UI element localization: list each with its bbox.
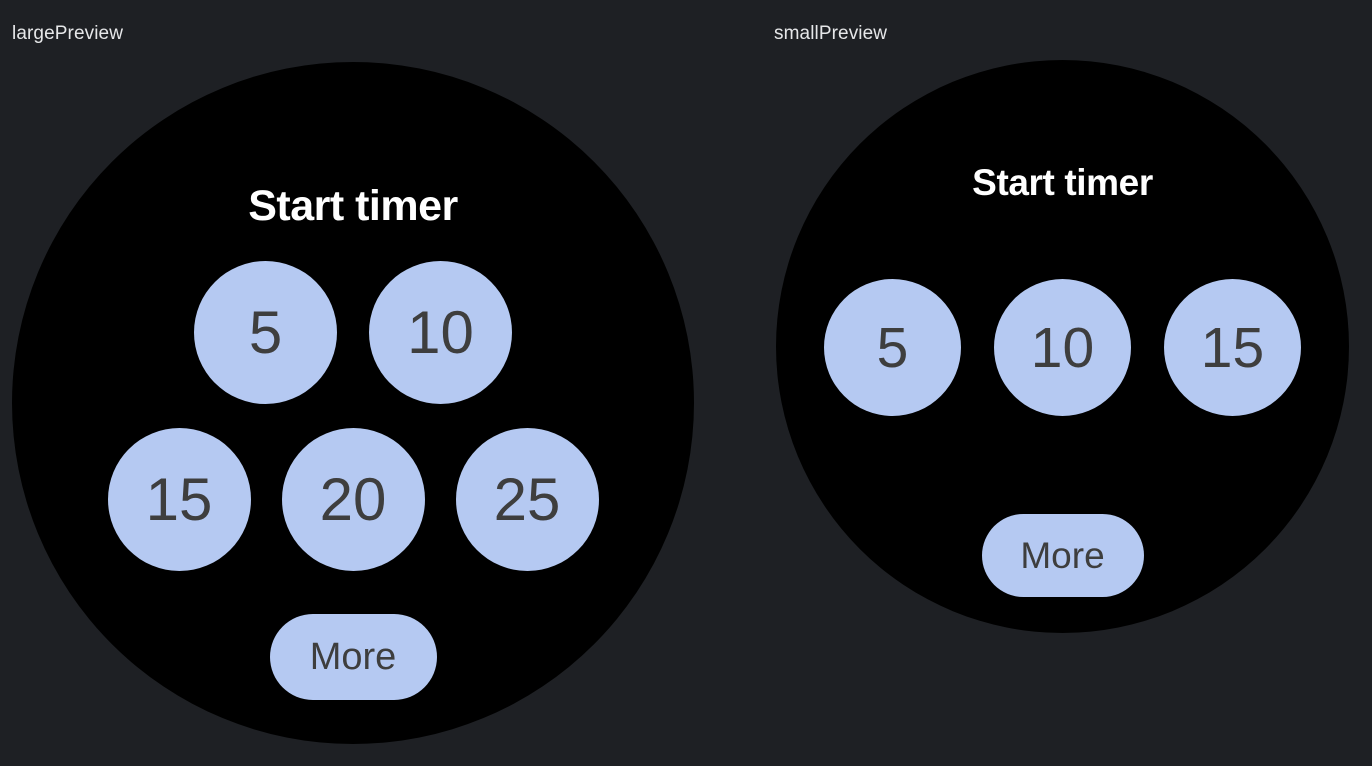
more-button[interactable]: More [982, 514, 1144, 597]
preview-label-small: smallPreview [774, 23, 887, 45]
watch-preview-small: Start timer 5 10 15 More [776, 60, 1349, 633]
watch-preview-large: Start timer 5 10 15 20 25 More [12, 62, 694, 744]
timer-chip-row: 5 10 15 [776, 279, 1349, 416]
screen-title: Start timer [12, 182, 694, 231]
timer-chip-10[interactable]: 10 [369, 261, 512, 404]
more-button[interactable]: More [270, 614, 437, 700]
timer-chip-15[interactable]: 15 [108, 428, 251, 571]
watch-face-large: Start timer 5 10 15 20 25 More [12, 62, 694, 744]
more-button-row: More [12, 614, 694, 700]
timer-chip-10[interactable]: 10 [994, 279, 1131, 416]
preview-label-large: largePreview [12, 23, 123, 45]
watch-face-small: Start timer 5 10 15 More [776, 60, 1349, 633]
timer-chip-20[interactable]: 20 [282, 428, 425, 571]
screen-title: Start timer [776, 162, 1349, 204]
timer-chip-5[interactable]: 5 [194, 261, 337, 404]
timer-chip-row: 5 10 [12, 261, 694, 404]
timer-chip-row: 15 20 25 [12, 428, 694, 571]
timer-chip-25[interactable]: 25 [456, 428, 599, 571]
timer-chip-15[interactable]: 15 [1164, 279, 1301, 416]
timer-chip-5[interactable]: 5 [824, 279, 961, 416]
more-button-row: More [776, 514, 1349, 597]
